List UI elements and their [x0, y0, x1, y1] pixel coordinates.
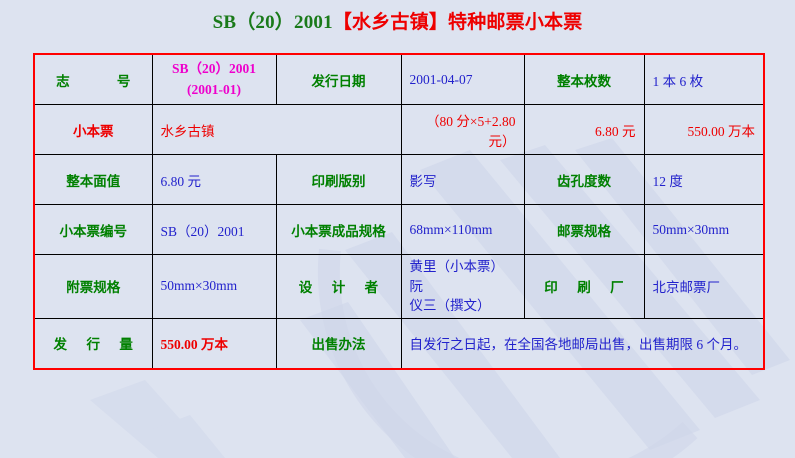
- table-row: 小本票 水乡古镇 （80 分×5+2.80 元） 6.80 元 550.00 万…: [34, 105, 764, 155]
- stamp-info-table: 志 号 SB（20）2001 (2001-01) 发行日期 2001-04-07…: [33, 53, 765, 370]
- cell-value-print-run: 550.00 万本: [644, 105, 764, 155]
- table-row: 整本面值 6.80 元 印刷版别 影写 齿孔度数 12 度: [34, 155, 764, 205]
- page-title: SB（20）2001【水乡古镇】特种邮票小本票: [0, 0, 795, 35]
- cell-value-designer: 黄里（小本票）阮 仪三（撰文）: [401, 255, 524, 319]
- cell-value-print-method: 影写: [401, 155, 524, 205]
- cell-value-sheet-count: 1 本 6 枚: [644, 54, 764, 105]
- table-row: 发 行 量 550.00 万本 出售办法 自发行之日起，在全国各地邮局出售，出售…: [34, 318, 764, 369]
- cell-label-total-face-value: 整本面值: [34, 155, 152, 205]
- cell-value-booklet-name: 水乡古镇: [152, 105, 401, 155]
- cell-label-sales-method: 出售办法: [276, 318, 401, 369]
- title-name: 【水乡古镇】特种邮票小本票: [333, 12, 583, 33]
- cell-value-zhihao: SB（20）2001 (2001-01): [152, 54, 276, 105]
- zhihao-line-1: SB（20）2001: [161, 59, 268, 79]
- cell-value-sales-method: 自发行之日起，在全国各地邮局出售，出售期限 6 个月。: [401, 318, 764, 369]
- cell-label-zhihao: 志 号: [34, 54, 152, 105]
- cell-label-perforation: 齿孔度数: [524, 155, 644, 205]
- cell-value-booklet-number: SB（20）2001: [152, 205, 276, 255]
- title-code: SB（20）2001: [213, 12, 333, 33]
- cell-value-booklet-size: 68mm×110mm: [401, 205, 524, 255]
- cell-label-booklet-number: 小本票编号: [34, 205, 152, 255]
- table-row: 志 号 SB（20）2001 (2001-01) 发行日期 2001-04-07…: [34, 54, 764, 105]
- cell-label-booklet: 小本票: [34, 105, 152, 155]
- cell-label-printer: 印 刷 厂: [524, 255, 644, 319]
- designer-line-1: 黄里（小本票）阮: [410, 257, 516, 296]
- cell-label-sheet-count: 整本枚数: [524, 54, 644, 105]
- cell-label-print-quantity: 发 行 量: [34, 318, 152, 369]
- cell-label-issue-date: 发行日期: [276, 54, 401, 105]
- cell-label-label-stamp-size: 附票规格: [34, 255, 152, 319]
- table-row: 小本票编号 SB（20）2001 小本票成品规格 68mm×110mm 邮票规格…: [34, 205, 764, 255]
- table-row: 附票规格 50mm×30mm 设 计 者 黄里（小本票）阮 仪三（撰文） 印 刷…: [34, 255, 764, 319]
- cell-value-print-quantity: 550.00 万本: [152, 318, 276, 369]
- stamp-info-table-container: 志 号 SB（20）2001 (2001-01) 发行日期 2001-04-07…: [33, 53, 763, 370]
- cell-label-designer: 设 计 者: [276, 255, 401, 319]
- cell-value-perforation: 12 度: [644, 155, 764, 205]
- cell-value-issue-date: 2001-04-07: [401, 54, 524, 105]
- cell-label-booklet-size: 小本票成品规格: [276, 205, 401, 255]
- cell-label-print-method: 印刷版别: [276, 155, 401, 205]
- cell-label-stamp-size: 邮票规格: [524, 205, 644, 255]
- cell-value-total-face: 6.80 元: [524, 105, 644, 155]
- cell-value-label-stamp-size: 50mm×30mm: [152, 255, 276, 319]
- stamp-info-page: SB（20）2001【水乡古镇】特种邮票小本票 志 号 SB（20）2001 (…: [0, 0, 795, 458]
- cell-value-stamp-size: 50mm×30mm: [644, 205, 764, 255]
- cell-value-face-breakdown: （80 分×5+2.80 元）: [401, 105, 524, 155]
- zhihao-line-2: (2001-01): [161, 80, 268, 100]
- cell-value-printer: 北京邮票厂: [644, 255, 764, 319]
- cell-value-total-face-value: 6.80 元: [152, 155, 276, 205]
- designer-line-2: 仪三（撰文）: [410, 296, 516, 316]
